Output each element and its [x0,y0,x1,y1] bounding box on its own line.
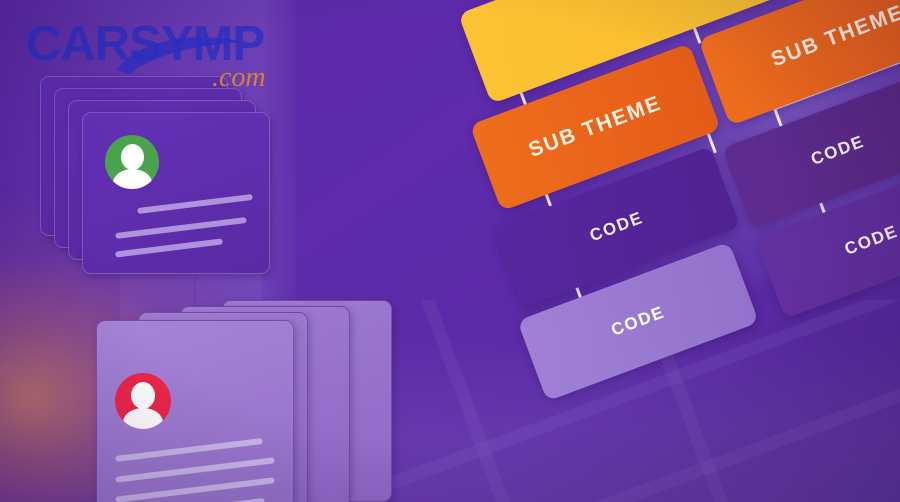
illustration-canvas: THEME SUB THEME SUB THEME CODE CODE CODE… [0,0,900,502]
card-stack-lower [96,300,396,502]
text-line [115,438,263,462]
card-item-front[interactable] [82,112,270,274]
text-line [137,194,253,214]
user-avatar-icon [115,373,171,429]
text-line [115,238,223,257]
node-sub-theme-2-label: SUB THEME [710,0,900,94]
card-stack-upper [28,66,268,276]
text-line [115,457,275,482]
card-text-lines [111,447,287,502]
text-line [115,477,275,502]
text-line [115,217,247,239]
card-item-front[interactable] [96,320,294,502]
user-avatar-icon [105,135,159,189]
card-text-lines [101,201,251,255]
node-code-3-label: CODE [733,104,900,198]
